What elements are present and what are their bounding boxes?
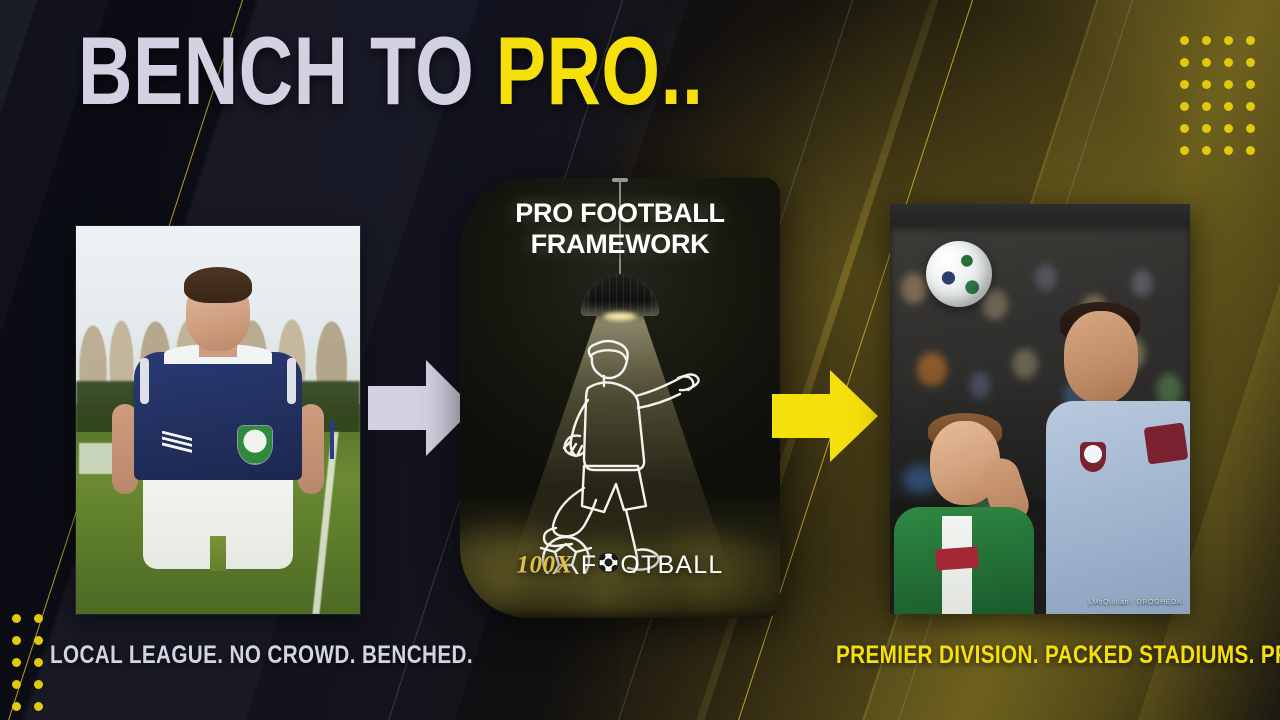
decorative-dot bbox=[34, 614, 43, 623]
decorative-dot bbox=[1224, 58, 1233, 67]
decorative-dot bbox=[1246, 36, 1255, 45]
brand-logo-word-prefix: F bbox=[581, 551, 597, 579]
decorative-dot bbox=[12, 614, 21, 623]
player-shorts-gap bbox=[210, 536, 226, 571]
caption-after: PREMIER DIVISION. PACKED STADIUMS. PRO. bbox=[836, 640, 1280, 669]
decorative-dot bbox=[1180, 146, 1189, 155]
match-ball-icon bbox=[926, 241, 992, 307]
page-title: BENCH TO PRO.. bbox=[78, 24, 703, 121]
brand-stripes-icon bbox=[162, 431, 192, 453]
decorative-dot bbox=[1224, 124, 1233, 133]
decorative-dot bbox=[1180, 36, 1189, 45]
decorative-dot bbox=[1180, 58, 1189, 67]
decorative-dot bbox=[34, 680, 43, 689]
defender-club-crest-icon bbox=[1080, 442, 1106, 472]
decorative-dot bbox=[1202, 58, 1211, 67]
decorative-dot bbox=[1202, 124, 1211, 133]
page-title-part-one: BENCH TO bbox=[78, 18, 496, 125]
decorative-dot bbox=[1202, 102, 1211, 111]
club-crest-icon bbox=[238, 426, 272, 464]
photo-corner-flag bbox=[330, 420, 334, 459]
page-title-part-two: PRO.. bbox=[496, 18, 704, 125]
footballer-line-art-icon bbox=[522, 338, 718, 574]
decorative-dot bbox=[1224, 102, 1233, 111]
decorative-dot bbox=[1246, 102, 1255, 111]
decorative-dot bbox=[1246, 124, 1255, 133]
decorative-dot bbox=[1180, 80, 1189, 89]
jersey-sleeve-stripe bbox=[140, 358, 149, 404]
decorative-dot bbox=[12, 658, 21, 667]
decorative-dot bbox=[1202, 36, 1211, 45]
decorative-dot bbox=[12, 636, 21, 645]
attacker-jersey-stripe bbox=[935, 547, 978, 570]
decorative-dot bbox=[1246, 58, 1255, 67]
card-title-line-2: FRAMEWORK bbox=[460, 229, 780, 260]
dot-grid-top-right bbox=[1180, 36, 1268, 168]
before-photo bbox=[76, 226, 360, 614]
framework-card[interactable]: PRO FOOTBALL FRAMEWORK bbox=[460, 178, 780, 618]
decorative-dot bbox=[1224, 80, 1233, 89]
decorative-dot bbox=[1224, 146, 1233, 155]
decorative-dot bbox=[34, 636, 43, 645]
decorative-dot bbox=[34, 702, 43, 711]
brand-logo: 100X FOTBALL bbox=[460, 551, 780, 580]
decorative-dot bbox=[1202, 80, 1211, 89]
decorative-dot bbox=[1246, 146, 1255, 155]
card-title: PRO FOOTBALL FRAMEWORK bbox=[460, 198, 780, 261]
after-photo: LMcQuillan / DROGHEDA bbox=[890, 204, 1190, 614]
decorative-dot bbox=[34, 658, 43, 667]
player-hair bbox=[184, 267, 252, 303]
player-jersey bbox=[134, 352, 302, 480]
photo-credit: LMcQuillan / DROGHEDA bbox=[1088, 599, 1182, 606]
slide-canvas: BENCH TO PRO.. bbox=[0, 0, 1280, 720]
defender-head bbox=[1064, 311, 1138, 403]
brand-logo-word-suffix: OTBALL bbox=[620, 551, 723, 579]
decorative-dot bbox=[1246, 80, 1255, 89]
decorative-dot bbox=[12, 680, 21, 689]
jersey-sleeve-stripe bbox=[287, 358, 296, 404]
brand-logo-mark: 100X bbox=[517, 552, 573, 579]
caption-before: LOCAL LEAGUE. NO CROWD. BENCHED. bbox=[50, 640, 473, 669]
decorative-dot bbox=[1224, 36, 1233, 45]
decorative-dot bbox=[1202, 146, 1211, 155]
card-title-line-1: PRO FOOTBALL bbox=[460, 198, 780, 229]
decorative-dot bbox=[12, 702, 21, 711]
defender-jersey-trim bbox=[1144, 423, 1189, 465]
arrow-right-icon bbox=[772, 368, 880, 464]
soccer-ball-icon bbox=[598, 552, 619, 573]
lamp-bulb-glow bbox=[603, 312, 637, 321]
decorative-dot bbox=[1180, 124, 1189, 133]
decorative-dot bbox=[1180, 102, 1189, 111]
